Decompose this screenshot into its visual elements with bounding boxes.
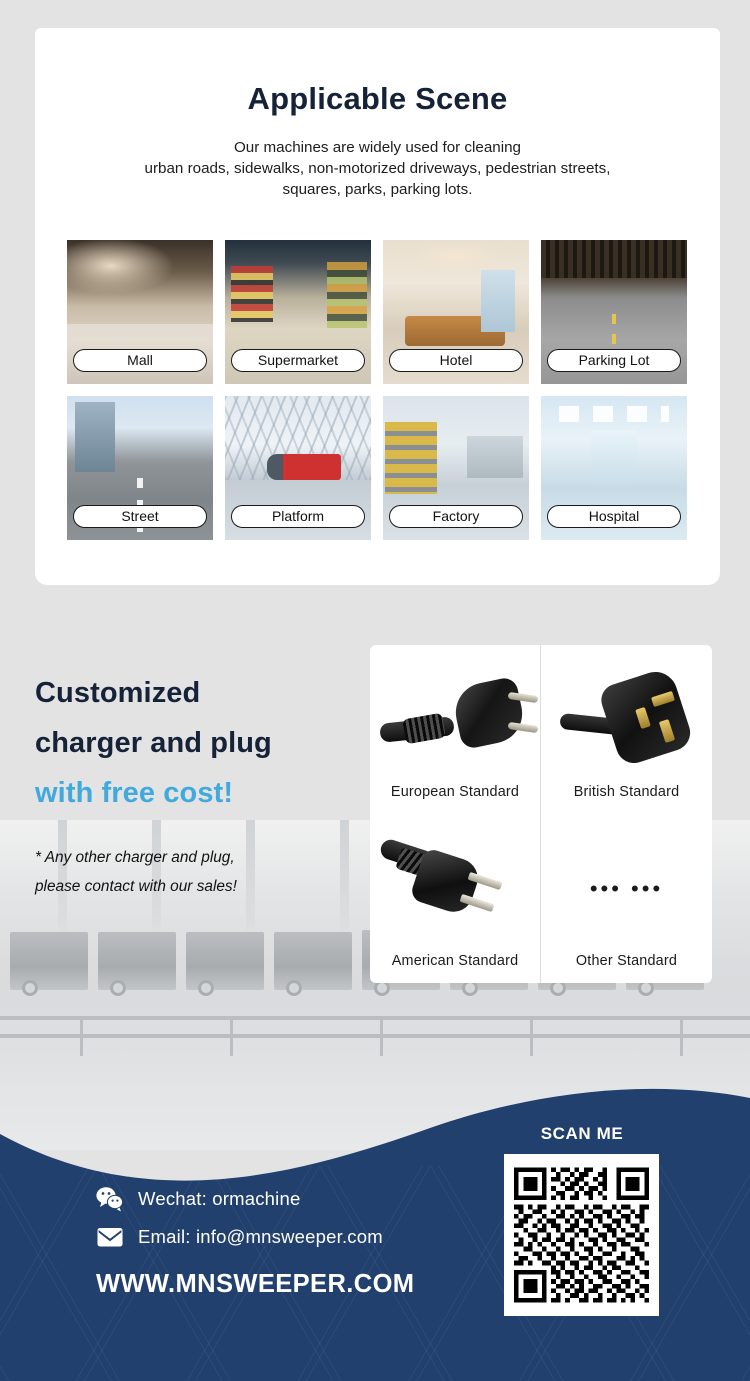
ellipsis-icon: ••• ••• (552, 837, 702, 941)
charger-heading-line-1: Customized (35, 668, 365, 718)
scene-tile-label: Factory (389, 505, 523, 528)
british-plug-image (552, 668, 702, 772)
plug-standard-caption: American Standard (392, 953, 519, 969)
scene-tile[interactable]: Platform (225, 396, 371, 540)
scene-tile[interactable]: Factory (383, 396, 529, 540)
scene-tile[interactable]: Parking Lot (541, 240, 687, 384)
wechat-text: Wechat: ormachine (138, 1188, 300, 1210)
scene-tile-label: Supermarket (231, 349, 365, 372)
plug-standard-caption: Other Standard (576, 953, 677, 969)
scene-subtitle-line-3: squares, parks, parking lots. (77, 179, 678, 200)
charger-note-line-1: * Any other charger and plug, (35, 843, 365, 872)
charger-note: * Any other charger and plug, please con… (35, 843, 365, 901)
scene-subtitle: Our machines are widely used for cleanin… (35, 137, 720, 200)
scene-tile[interactable]: Hospital (541, 396, 687, 540)
scene-tile[interactable]: Mall (67, 240, 213, 384)
plug-standard-cell-british: British Standard (541, 645, 712, 814)
wechat-icon (96, 1186, 124, 1212)
scene-tile-label: Hospital (547, 505, 681, 528)
scene-tile-label: Mall (73, 349, 207, 372)
scene-tile-label: Street (73, 505, 207, 528)
contact-wechat[interactable]: Wechat: ormachine (96, 1186, 300, 1212)
qr-code[interactable] (504, 1154, 659, 1316)
plug-standard-cell-other: ••• ••• Other Standard (541, 814, 712, 983)
email-text: Email: info@mnsweeper.com (138, 1226, 383, 1248)
scene-tile-label: Parking Lot (547, 349, 681, 372)
page-title: Applicable Scene (35, 81, 720, 117)
poster-page: Technology Capt Capt Applicable Scene Ou… (0, 0, 750, 1381)
scene-subtitle-line-1: Our machines are widely used for cleanin… (77, 137, 678, 158)
website-url[interactable]: WWW.MNSWEEPER.COM (96, 1270, 414, 1299)
european-plug-image (380, 668, 530, 772)
qr-code-image (514, 1164, 649, 1306)
scene-tile-grid: Mall Supermarket Hotel Parking Lot Stree… (67, 240, 687, 540)
scene-tile-label: Platform (231, 505, 365, 528)
plug-standard-cell-european: European Standard (370, 645, 541, 814)
charger-heading-line-2: charger and plug (35, 718, 365, 768)
scene-tile[interactable]: Supermarket (225, 240, 371, 384)
charger-note-line-2: please contact with our sales! (35, 872, 365, 901)
scene-tile-label: Hotel (389, 349, 523, 372)
applicable-scene-card: Applicable Scene Our machines are widely… (35, 28, 720, 585)
charger-heading-accent: with free cost! (35, 768, 365, 818)
scene-tile[interactable]: Street (67, 396, 213, 540)
scene-subtitle-line-2: urban roads, sidewalks, non-motorized dr… (77, 158, 678, 179)
envelope-icon (96, 1224, 124, 1250)
plug-standard-cell-american: American Standard (370, 814, 541, 983)
american-plug-image (380, 837, 530, 941)
contact-email[interactable]: Email: info@mnsweeper.com (96, 1224, 383, 1250)
plug-standards-card: European Standard British Standard Ameri… (370, 645, 712, 983)
plug-standard-caption: European Standard (391, 784, 519, 800)
scan-me-label: SCAN ME (506, 1124, 658, 1144)
plug-standard-caption: British Standard (574, 784, 680, 800)
scene-tile[interactable]: Hotel (383, 240, 529, 384)
charger-heading: Customized charger and plug with free co… (35, 668, 365, 818)
